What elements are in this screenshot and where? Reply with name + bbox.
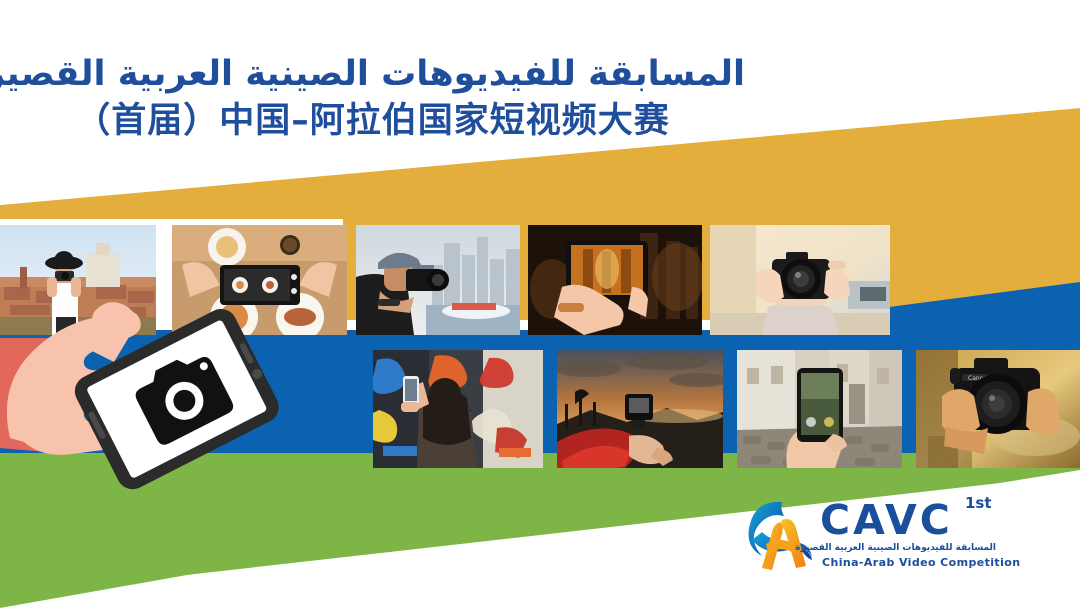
logo-wordmark-block: CAVC 1st المسابقة للفيديوهات الصينية الع… [820,494,1000,586]
poster-canvas: Canon [0,0,1080,608]
logo-english-tagline: China-Arab Video Competition [822,556,998,569]
logo-edition-superscript: 1st [965,494,992,512]
cavc-logo[interactable]: CAVC 1st المسابقة للفيديوهات الصينية الع… [742,494,1000,586]
cavc-ribbon-monogram-icon [742,496,816,570]
logo-arabic-tagline: المسابقة للفيديوهات الصينية العربية القص… [824,543,996,553]
logo-wordmark: CAVC [820,500,953,541]
